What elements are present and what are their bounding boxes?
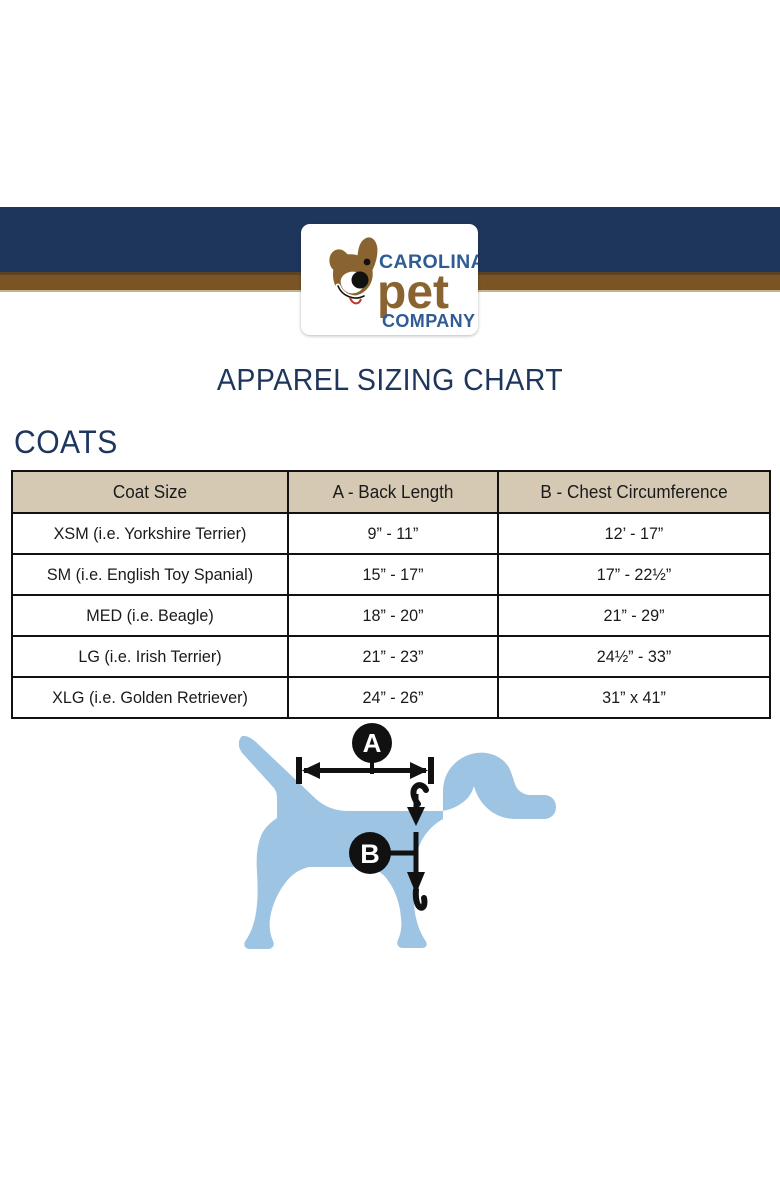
table-row: XSM (i.e. Yorkshire Terrier) 9” - 11” 12… [12,513,770,554]
logo-text-company: COMPANY [382,311,475,331]
cell-coat-size: MED (i.e. Beagle) [12,595,288,636]
table-row: LG (i.e. Irish Terrier) 21” - 23” 24½” -… [12,636,770,677]
cell-back-length-label: 9” - 11” [294,524,492,544]
cell-coat-size: LG (i.e. Irish Terrier) [12,636,288,677]
cell-back-length: 24” - 26” [288,677,498,718]
cell-back-length-label: 24” - 26” [294,688,492,708]
dog-silhouette [239,736,556,949]
logo-dog-head-icon [329,237,377,303]
cell-chest-circumference-label: 21” - 29” [506,606,763,626]
measurement-a-badge-label: A [363,728,382,758]
cell-chest-circumference: 21” - 29” [498,595,770,636]
cell-back-length: 21” - 23” [288,636,498,677]
measurement-a-right-arrowhead [410,762,428,779]
cell-back-length-label: 21” - 23” [294,647,492,667]
cell-back-length: 15” - 17” [288,554,498,595]
cell-back-length: 18” - 20” [288,595,498,636]
cell-chest-circumference: 31” x 41” [498,677,770,718]
logo-nose [352,272,369,289]
cell-coat-size-label: SM (i.e. English Toy Spanial) [20,565,280,585]
cell-chest-circumference-label: 12’ - 17” [506,524,763,544]
measurement-b-badge-label: B [360,839,380,869]
cell-back-length-label: 18” - 20” [294,606,492,626]
measurement-a-left-arrowhead [302,762,320,779]
table-row: XLG (i.e. Golden Retriever) 24” - 26” 31… [12,677,770,718]
cell-coat-size-label: XLG (i.e. Golden Retriever) [20,688,280,708]
measurement-a-badge: A [352,723,392,763]
page-title: APPAREL SIZING CHART [31,362,749,398]
cell-chest-circumference-label: 24½” - 33” [506,647,763,667]
column-header-coat-size: Coat Size [12,471,288,513]
cell-chest-circumference: 17” - 22½” [498,554,770,595]
logo-eye [364,259,371,266]
dog-measurement-diagram: A B [228,722,562,970]
cell-back-length: 9” - 11” [288,513,498,554]
cell-chest-circumference-label: 31” x 41” [506,688,763,708]
section-title-coats: COATS [14,424,118,461]
measurement-b-badge: B [349,832,391,874]
cell-coat-size-label: LG (i.e. Irish Terrier) [20,647,280,667]
table-row: SM (i.e. English Toy Spanial) 15” - 17” … [12,554,770,595]
table-row: MED (i.e. Beagle) 18” - 20” 21” - 29” [12,595,770,636]
table-header-row: Coat Size A - Back Length B - Chest Circ… [12,471,770,513]
carolina-pet-company-logo: CAROLINA pet COMPANY [301,224,478,335]
column-header-back-length-label: A - Back Length [294,482,492,503]
measurement-b-bottom-hook [416,890,425,908]
cell-coat-size-label: MED (i.e. Beagle) [20,606,280,626]
cell-coat-size-label: XSM (i.e. Yorkshire Terrier) [20,524,280,544]
coat-sizing-table: Coat Size A - Back Length B - Chest Circ… [11,470,771,719]
column-header-back-length: A - Back Length [288,471,498,513]
column-header-chest-circumference-label: B - Chest Circumference [506,482,763,503]
cell-chest-circumference: 12’ - 17” [498,513,770,554]
cell-chest-circumference-label: 17” - 22½” [506,565,763,585]
cell-back-length-label: 15” - 17” [294,565,492,585]
column-header-chest-circumference: B - Chest Circumference [498,471,770,513]
logo-artwork: CAROLINA pet COMPANY [301,224,478,335]
column-header-coat-size-label: Coat Size [20,482,280,503]
cell-coat-size: SM (i.e. English Toy Spanial) [12,554,288,595]
cell-coat-size: XLG (i.e. Golden Retriever) [12,677,288,718]
cell-chest-circumference: 24½” - 33” [498,636,770,677]
cell-coat-size: XSM (i.e. Yorkshire Terrier) [12,513,288,554]
